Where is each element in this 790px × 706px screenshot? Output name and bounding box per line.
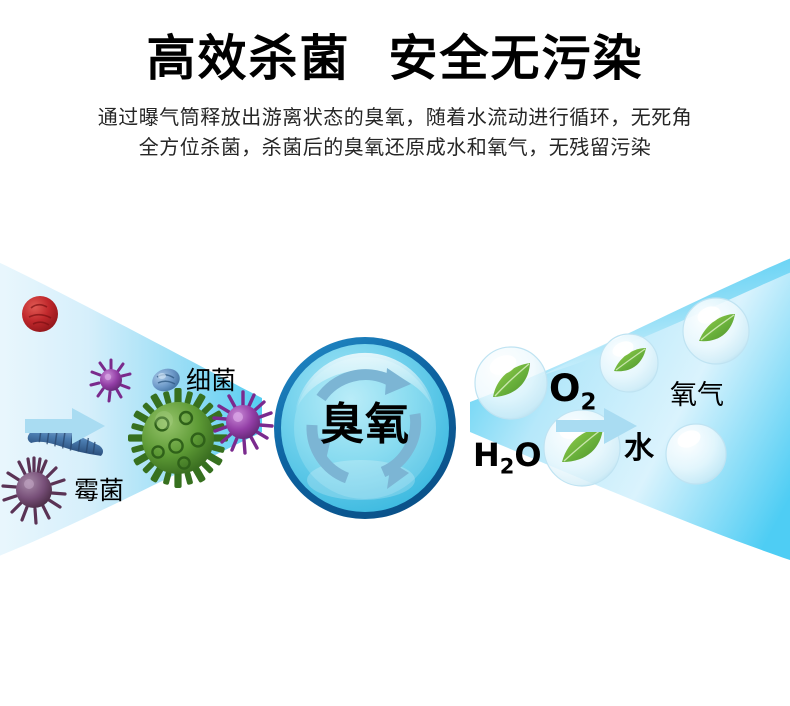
label-o2: O2 bbox=[549, 370, 596, 414]
ozone-label-wrap: 臭氧 bbox=[277, 403, 453, 453]
bubble-leaf-1 bbox=[475, 347, 547, 419]
ozone-center-label: 臭氧 bbox=[277, 403, 453, 447]
h2o-subscript: 2 bbox=[500, 454, 515, 478]
h2o-symbol-o: O bbox=[514, 436, 541, 474]
o2-symbol: O bbox=[549, 367, 580, 410]
subtitle-line-1: 通过曝气筒释放出游离状态的臭氧，随着水流动进行循环，无死角 bbox=[0, 102, 790, 132]
header: 高效杀菌 安全无污染 通过曝气筒释放出游离状态的臭氧，随着水流动进行循环，无死角… bbox=[0, 0, 790, 162]
page-title: 高效杀菌 安全无污染 bbox=[0, 32, 790, 86]
label-oxygen: 氧气 bbox=[670, 382, 724, 409]
subtitle-block: 通过曝气筒释放出游离状态的臭氧，随着水流动进行循环，无死角 全方位杀菌，杀菌后的… bbox=[0, 102, 790, 162]
microbe-red bbox=[22, 296, 58, 332]
label-water: 水 bbox=[624, 434, 654, 464]
h2o-symbol-h: H bbox=[473, 436, 500, 474]
bubble-plain bbox=[666, 424, 726, 484]
poster-root: 高效杀菌 安全无污染 通过曝气筒释放出游离状态的臭氧，随着水流动进行循环，无死角… bbox=[0, 0, 790, 706]
label-h2o: H2O bbox=[473, 439, 542, 477]
label-bacteria: 细菌 bbox=[186, 368, 236, 393]
bubble-leaf-3 bbox=[600, 334, 658, 392]
o2-subscript: 2 bbox=[580, 389, 596, 415]
label-mold: 霉菌 bbox=[74, 478, 124, 503]
subtitle-line-2: 全方位杀菌，杀菌后的臭氧还原成水和氧气，无残留污染 bbox=[0, 132, 790, 162]
bubble-leaf-2 bbox=[683, 298, 749, 364]
